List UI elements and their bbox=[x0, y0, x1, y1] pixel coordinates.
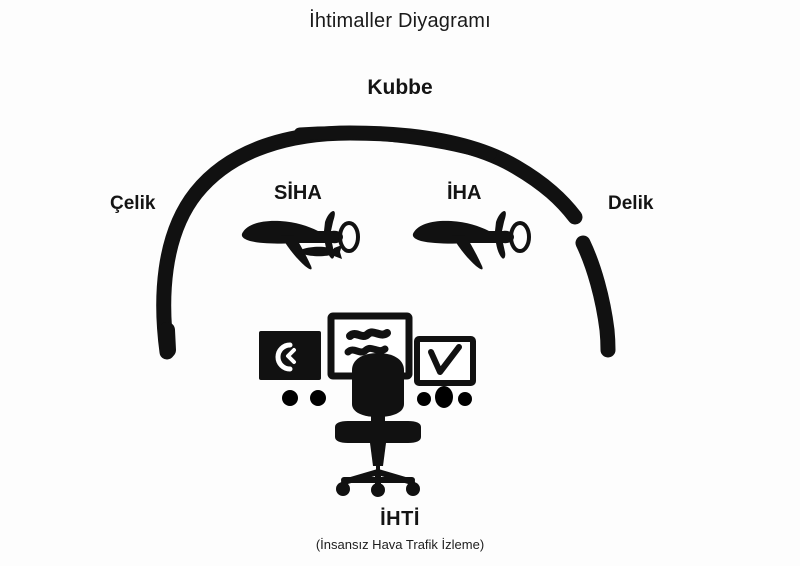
diagram-canvas: İhtimaller Diyagramı Kubbe Çelik Delik S… bbox=[0, 0, 800, 566]
monitor-right-icon bbox=[417, 339, 473, 383]
uav-armed-icon bbox=[242, 211, 358, 269]
control-station-icon bbox=[259, 316, 473, 497]
diagram-artwork bbox=[0, 0, 800, 566]
monitor-left-icon bbox=[259, 331, 321, 380]
dome-gap-segment-icon bbox=[583, 243, 608, 350]
uav-unarmed-icon bbox=[413, 211, 529, 269]
